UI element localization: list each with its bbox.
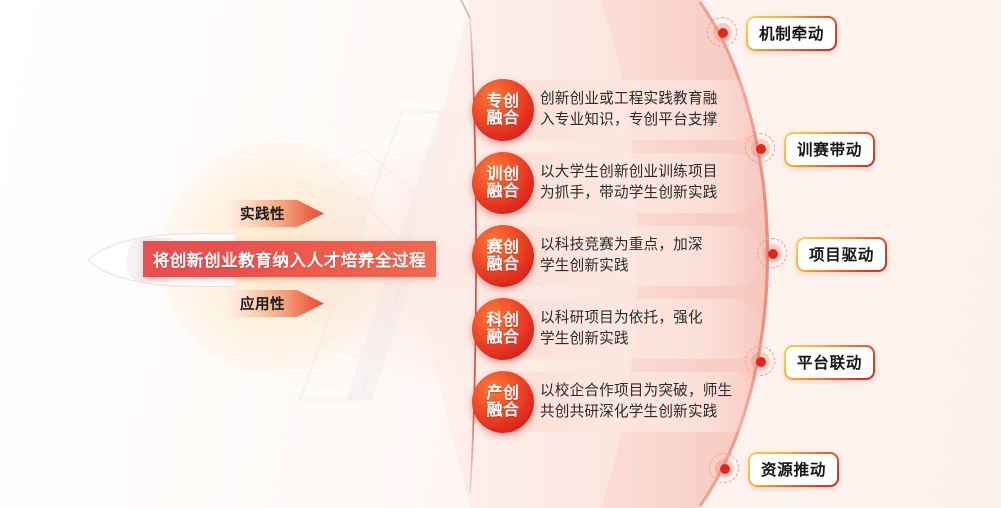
driver-dot-icon	[744, 345, 778, 379]
dot-core	[756, 144, 766, 154]
driver-box[interactable]: 项目驱动	[796, 237, 887, 272]
driver-item-platform[interactable]: 平台联动	[744, 345, 875, 379]
driver-label: 项目驱动	[798, 239, 885, 270]
tag-applied-label: 应用性	[228, 290, 324, 317]
node-description-line2: 学生创新实践	[540, 256, 755, 277]
node-badge-line1: 赛创	[486, 239, 519, 256]
node-description-line2: 学生创新实践	[540, 329, 755, 350]
dot-core	[756, 357, 766, 367]
tag-practical-label: 实践性	[228, 200, 324, 227]
driver-box[interactable]: 训赛带动	[784, 132, 875, 167]
node-badge-line1: 训创	[486, 166, 519, 183]
node-badge-line1: 专创	[486, 93, 519, 110]
dot-core	[768, 249, 778, 259]
node-item[interactable]: 产创 融合 以校企合作项目为突破，师生 共创共研深化学生创新实践	[472, 371, 762, 433]
node-description: 以科技竞赛为重点，加深 学生创新实践	[540, 225, 755, 287]
diagram-canvas: 实践性 应用性 将创新创业教育纳入人才培养全过程 专创 融合 创新创业或工程实践…	[0, 0, 1001, 508]
driver-dot-icon	[708, 452, 742, 486]
node-badge-line2: 融合	[486, 183, 519, 200]
node-badge: 赛创 融合	[472, 225, 534, 287]
driver-box[interactable]: 平台联动	[784, 345, 875, 380]
node-description-line1: 以科研项目为依托，强化	[540, 308, 755, 329]
node-badge: 训创 融合	[472, 152, 534, 214]
node-description-line1: 创新创业或工程实践教育融	[540, 89, 755, 110]
node-badge-line2: 融合	[486, 402, 519, 419]
driver-box[interactable]: 机制牵动	[746, 16, 837, 51]
driver-item-project[interactable]: 项目驱动	[756, 237, 887, 271]
driver-label: 平台联动	[786, 347, 873, 378]
node-badge-line2: 融合	[486, 256, 519, 273]
driver-dot-icon	[756, 237, 790, 271]
driver-label: 训赛带动	[786, 134, 873, 165]
node-badge: 科创 融合	[472, 298, 534, 360]
main-title-bar[interactable]: 将创新创业教育纳入人才培养全过程	[143, 241, 436, 277]
node-badge-line2: 融合	[486, 110, 519, 127]
driver-label: 机制牵动	[748, 18, 835, 49]
node-description-line1: 以科技竞赛为重点，加深	[540, 235, 755, 256]
main-title-text: 将创新创业教育纳入人才培养全过程	[153, 247, 427, 271]
driver-item-training-competition[interactable]: 训赛带动	[744, 132, 875, 166]
node-description-line2: 入专业知识，专创平台支撑	[540, 110, 755, 131]
node-badge-line1: 科创	[486, 312, 519, 329]
node-description-line2: 共创共研深化学生创新实践	[540, 402, 755, 423]
node-description: 以大学生创新创业训练项目 为抓手，带动学生创新实践	[540, 152, 755, 214]
node-description-line1: 以大学生创新创业训练项目	[540, 162, 755, 183]
node-item[interactable]: 专创 融合 创新创业或工程实践教育融 入专业知识，专创平台支撑	[472, 79, 762, 141]
node-description: 以科研项目为依托，强化 学生创新实践	[540, 298, 755, 360]
tag-applied[interactable]: 应用性	[228, 290, 324, 317]
driver-dot-icon	[744, 132, 778, 166]
driver-dot-icon	[706, 16, 740, 50]
node-description: 以校企合作项目为突破，师生 共创共研深化学生创新实践	[540, 371, 755, 433]
node-description: 创新创业或工程实践教育融 入专业知识，专创平台支撑	[540, 79, 755, 141]
driver-label: 资源推动	[750, 454, 837, 485]
node-badge-line2: 融合	[486, 329, 519, 346]
dot-core	[720, 464, 730, 474]
node-badge: 产创 融合	[472, 371, 534, 433]
driver-item-resource[interactable]: 资源推动	[708, 452, 839, 486]
node-item[interactable]: 赛创 融合 以科技竞赛为重点，加深 学生创新实践	[472, 225, 762, 287]
tag-practical[interactable]: 实践性	[228, 200, 324, 227]
dot-core	[718, 28, 728, 38]
node-item[interactable]: 科创 融合 以科研项目为依托，强化 学生创新实践	[472, 298, 762, 360]
node-badge-line1: 产创	[486, 385, 519, 402]
node-description-line2: 为抓手，带动学生创新实践	[540, 183, 755, 204]
driver-item-mechanism[interactable]: 机制牵动	[706, 16, 837, 50]
driver-box[interactable]: 资源推动	[748, 452, 839, 487]
node-badge: 专创 融合	[472, 79, 534, 141]
node-description-line1: 以校企合作项目为突破，师生	[540, 381, 755, 402]
node-item[interactable]: 训创 融合 以大学生创新创业训练项目 为抓手，带动学生创新实践	[472, 152, 762, 214]
